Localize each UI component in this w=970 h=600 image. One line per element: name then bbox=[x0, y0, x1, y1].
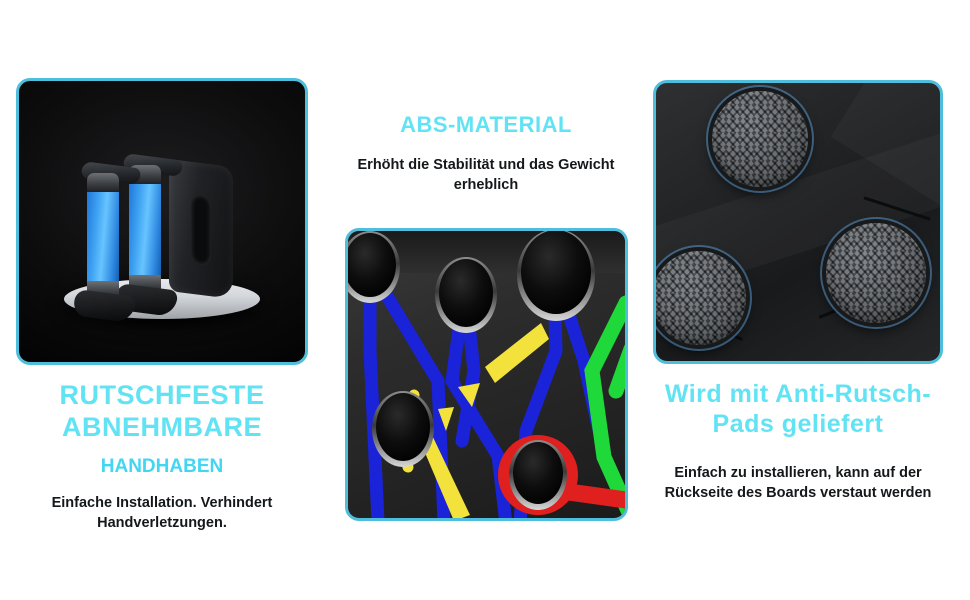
heading-handles: RUTSCHFESTE ABNEHMBARE bbox=[16, 380, 308, 444]
grip-cap-top-front bbox=[87, 173, 119, 193]
body-text-anti-slip-pads: Einfach zu installieren, kann auf der Rü… bbox=[652, 464, 944, 503]
grip-foam-rear bbox=[129, 184, 161, 276]
heading-pads-line2: Pads geliefert bbox=[652, 410, 944, 440]
handle-back-plate bbox=[169, 159, 233, 299]
body-text-handles: Einfache Installation. Verhindert Handve… bbox=[24, 494, 300, 533]
subheading-handles: HANDHABEN bbox=[16, 456, 308, 479]
pad-tread-bottom-left bbox=[653, 251, 746, 345]
body-text-abs-material: Erhöht die Stabilität und das Gewicht er… bbox=[334, 156, 638, 195]
handle-grip-front bbox=[87, 173, 119, 301]
image-panel-pads bbox=[653, 80, 943, 364]
heading-pads-line1: Wird mit Anti-Rutsch- bbox=[652, 380, 944, 410]
image-panel-board bbox=[345, 228, 628, 521]
anti-slip-pad-bottom-right bbox=[826, 223, 926, 323]
grip-foam-front bbox=[87, 192, 119, 282]
anti-slip-pad-top bbox=[712, 91, 808, 187]
heading-handles-line2: ABNEHMBARE bbox=[16, 412, 308, 444]
heading-handles-line1: RUTSCHFESTE bbox=[16, 380, 308, 412]
image-panel-handles bbox=[16, 78, 308, 365]
heading-anti-slip-pads: Wird mit Anti-Rutsch- Pads geliefert bbox=[652, 380, 944, 439]
pad-tread-bottom-right bbox=[826, 223, 926, 323]
pad-tread-top bbox=[712, 91, 808, 187]
heading-abs-material: ABS-MATERIAL bbox=[330, 112, 642, 138]
anti-slip-pad-bottom-left bbox=[653, 251, 746, 345]
handle-grip-rear bbox=[129, 165, 161, 295]
board-markings-graphic bbox=[348, 231, 628, 521]
